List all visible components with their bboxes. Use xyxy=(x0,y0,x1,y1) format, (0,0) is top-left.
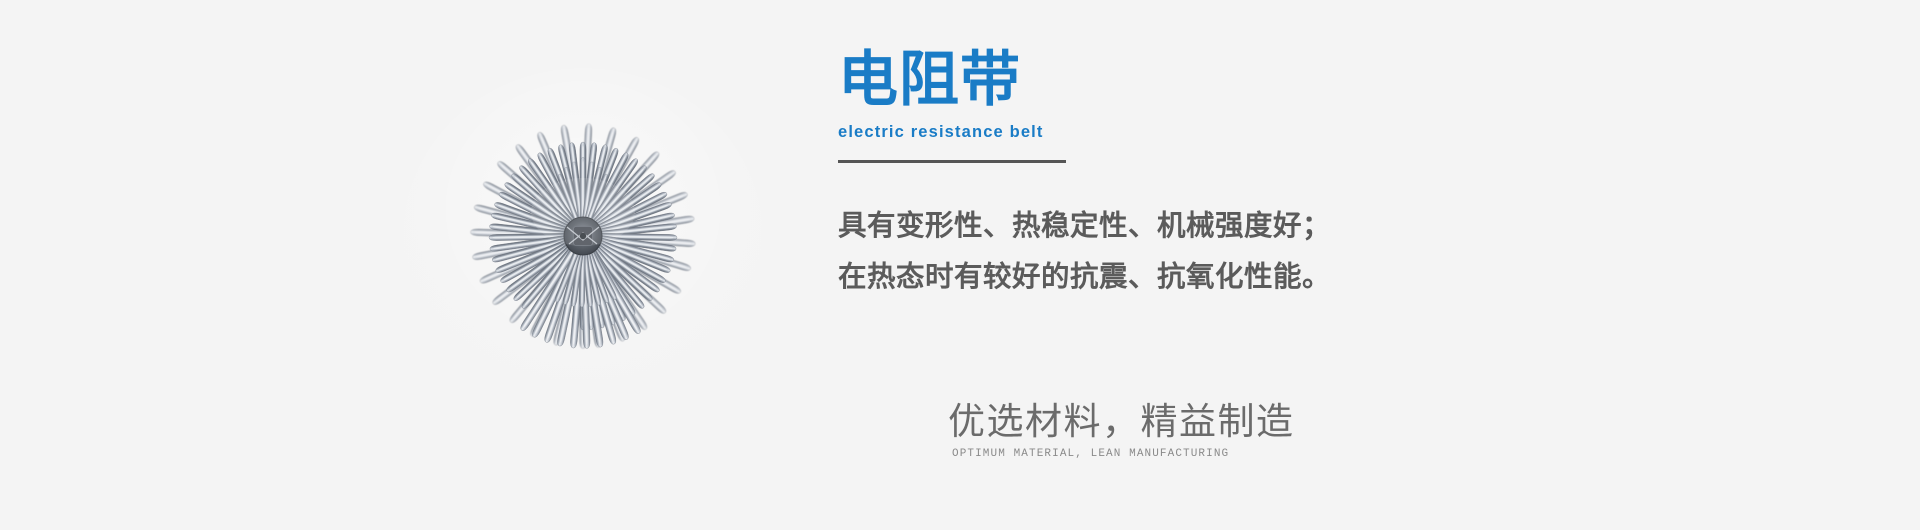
slogan-english: OPTIMUM MATERIAL, LEAN MANUFACTURING xyxy=(952,448,1295,460)
title-divider xyxy=(838,160,1066,163)
description-line-2: 在热态时有较好的抗震、抗氧化性能。 xyxy=(838,252,1498,303)
banner-text-block: 电阻带 electric resistance belt 具有变形性、热稳定性、… xyxy=(838,46,1498,303)
page-subtitle: electric resistance belt xyxy=(838,123,1498,142)
description-line-1: 具有变形性、热稳定性、机械强度好； xyxy=(838,201,1498,252)
product-banner: 电阻带 electric resistance belt 具有变形性、热稳定性、… xyxy=(0,0,1920,530)
resistance-belt-illustration xyxy=(355,60,815,440)
product-image xyxy=(355,60,815,440)
product-description: 具有变形性、热稳定性、机械强度好； 在热态时有较好的抗震、抗氧化性能。 xyxy=(838,201,1498,303)
page-title: 电阻带 xyxy=(838,46,1498,113)
slogan-chinese: 优选材料，精益制造 xyxy=(948,398,1295,446)
slogan-block: 优选材料，精益制造 OPTIMUM MATERIAL, LEAN MANUFAC… xyxy=(948,398,1295,460)
